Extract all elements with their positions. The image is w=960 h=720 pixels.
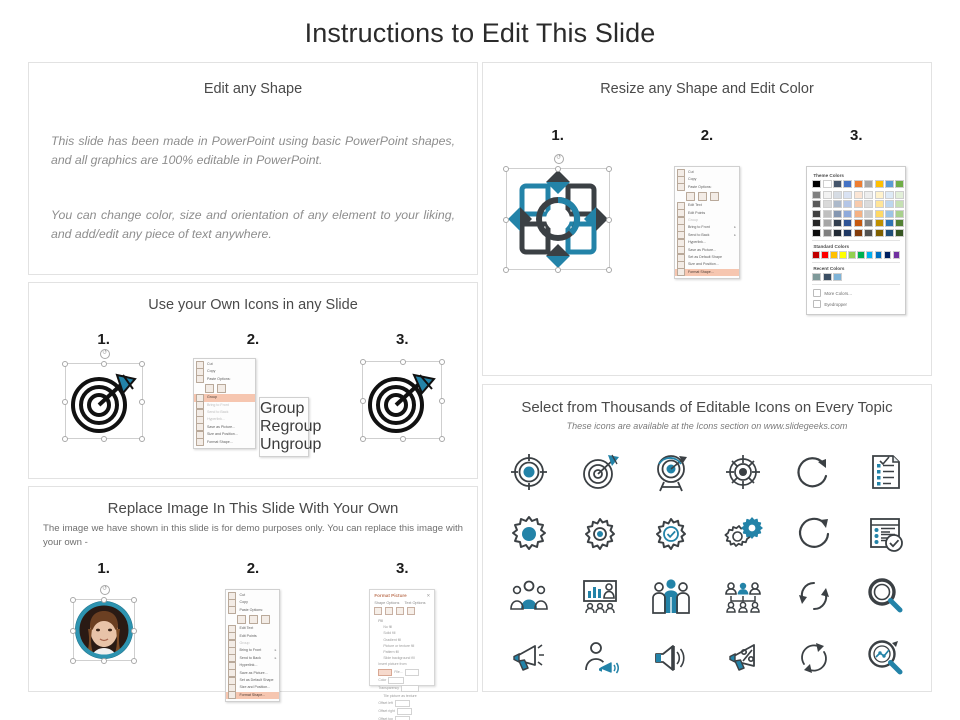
menu-item[interactable]: Paste Options: [226, 607, 279, 614]
panel-resize-shape: Resize any Shape and Edit Color 1. ↺ [482, 62, 932, 376]
context-menu-group[interactable]: CutCopyPaste Options:GroupBring to Front… [193, 358, 256, 449]
format-pane-tab-shape[interactable]: Shape Options [374, 601, 399, 605]
color-swatch[interactable] [812, 229, 821, 237]
menu-item-label: Group [260, 400, 304, 417]
icon-team-three[interactable] [636, 565, 707, 627]
menu-item-label: Cut [207, 361, 213, 368]
slide-canvas: Instructions to Edit This Slide Edit any… [0, 0, 960, 720]
color-swatch[interactable] [833, 210, 842, 218]
color-swatch[interactable] [895, 210, 904, 218]
color-swatch[interactable] [885, 229, 894, 237]
own-icons-step-1: 1. ↺ [29, 331, 178, 439]
color-swatch[interactable] [833, 200, 842, 208]
theme-color-column[interactable] [854, 180, 863, 237]
menu-item[interactable]: Format Shape... [194, 439, 255, 446]
menu-item-label: Hyperlink... [239, 662, 257, 669]
color-swatch[interactable] [823, 180, 832, 188]
close-icon[interactable]: ✕ [426, 593, 430, 599]
color-swatch[interactable] [833, 219, 842, 227]
replace-image-step-2: 2. CutCopyPaste Options:Edit TextEdit Po… [178, 560, 327, 702]
menu-item-label: Paste Options: [207, 376, 231, 383]
color-swatch[interactable] [854, 219, 863, 227]
panel-heading-resize-shape: Resize any Shape and Edit Color [483, 81, 931, 97]
icon-target-stand[interactable] [636, 441, 707, 503]
color-swatch[interactable] [884, 251, 892, 259]
color-swatch[interactable] [875, 200, 884, 208]
eyedropper-icon [813, 300, 821, 308]
resize-step-3: 3. Theme Colors Standard Colors Recent C… [782, 127, 931, 315]
icon-gear-check[interactable] [636, 503, 707, 565]
panel-icons-library: Select from Thousands of Editable Icons … [482, 384, 932, 692]
icon-gears-pair[interactable] [707, 503, 778, 565]
color-swatch[interactable] [895, 180, 904, 188]
color-swatch[interactable] [875, 251, 883, 259]
step-number: 3. [396, 560, 409, 577]
tile-picture-checkbox[interactable]: Tile picture as texture [374, 693, 430, 699]
paste-option-icon[interactable] [710, 192, 719, 201]
color-swatch[interactable] [833, 229, 842, 237]
color-swatch[interactable] [895, 191, 904, 199]
chevron-right-icon: ▸ [734, 232, 736, 239]
edit-shape-paragraph-2: You can change color, size and orientati… [51, 206, 455, 244]
icon-gear-dot[interactable] [564, 503, 635, 565]
menu-item-label: Group [207, 394, 217, 401]
size-icon[interactable] [396, 607, 404, 615]
menu-item-label: Group [239, 640, 249, 647]
chevron-right-icon: ▸ [734, 224, 736, 231]
menu-item-label: Edit Text [239, 625, 253, 632]
color-swatch[interactable] [895, 229, 904, 237]
icon-cycle-arrows[interactable] [778, 565, 849, 627]
color-swatch[interactable] [854, 210, 863, 218]
menu-item-label: Group [688, 217, 698, 224]
icon-magnifier-target[interactable] [850, 627, 921, 689]
paste-option-icon[interactable] [249, 615, 258, 624]
paste-option-icon[interactable] [237, 615, 246, 624]
eyedropper-option[interactable]: Eyedropper [812, 299, 900, 310]
menu-item-label: Save as Picture... [207, 424, 235, 431]
own-icons-step-2: 2. CutCopyPaste Options:GroupBring to Fr… [178, 331, 327, 468]
step-number: 3. [396, 331, 409, 348]
color-swatch[interactable] [864, 229, 873, 237]
color-swatch[interactable] [812, 273, 821, 281]
menu-item-label: Edit Points [239, 633, 256, 640]
menu-item-label: Set as Default Shape [688, 254, 722, 261]
color-swatch[interactable] [864, 191, 873, 199]
resize-step-1: 1. ↺ [483, 127, 632, 270]
paste-option-icon[interactable] [698, 192, 707, 201]
color-swatch[interactable] [885, 210, 894, 218]
icon-gear-solid[interactable] [493, 503, 564, 565]
resize-step-2: 2. CutCopyPaste Options:Edit TextEdit Po… [632, 127, 781, 279]
color-swatch[interactable] [843, 210, 852, 218]
color-swatch[interactable] [864, 219, 873, 227]
more-colors-label: More Colors... [824, 291, 852, 296]
theme-color-column[interactable] [843, 180, 852, 237]
paste-option-icon[interactable] [205, 384, 214, 393]
icon-presentation-audience[interactable] [564, 565, 635, 627]
color-swatch[interactable] [823, 191, 832, 199]
menu-item-label: Send to Back [688, 232, 709, 239]
color-swatch[interactable] [864, 210, 873, 218]
theme-colors-grid[interactable] [812, 180, 900, 237]
theme-color-column[interactable] [864, 180, 873, 237]
eyedropper-label: Eyedropper [824, 302, 847, 307]
chevron-right-icon: ▸ [275, 647, 277, 654]
selected-target-shape[interactable]: ↺ [65, 363, 143, 439]
color-swatch[interactable] [821, 251, 829, 259]
menu-item: Bring to Front [194, 402, 255, 409]
color-swatch[interactable] [843, 200, 852, 208]
step-number: 1. [551, 127, 564, 144]
menu-item-label: Regroup [260, 418, 321, 435]
menu-item-label: Bring to Front [688, 224, 710, 231]
selected-quadrant-shape[interactable]: ↺ [506, 168, 610, 270]
recent-colors-row[interactable] [812, 273, 900, 281]
menu-item-label: Copy [239, 599, 247, 606]
menu-item-label: Size and Position... [239, 684, 270, 691]
replace-image-step-1: 1. ↺ [29, 560, 178, 661]
color-swatch[interactable] [812, 180, 821, 188]
icon-rotate-arrows[interactable] [778, 627, 849, 689]
fill-icon[interactable] [374, 607, 382, 615]
menu-item-icon [228, 691, 236, 699]
menu-item[interactable]: Edit Points [226, 633, 279, 640]
menu-item[interactable]: Save as Picture... [226, 670, 279, 677]
chevron-right-icon: ▸ [275, 655, 277, 662]
picture-icon[interactable] [407, 607, 415, 615]
icon-refresh-arrow[interactable] [778, 441, 849, 503]
own-icons-step-3: 3. [328, 331, 477, 439]
icon-people-group[interactable] [493, 565, 564, 627]
color-swatch[interactable] [823, 210, 832, 218]
theme-color-column[interactable] [833, 180, 842, 237]
menu-item-label: Edit Text [688, 202, 702, 209]
paste-option-icon[interactable] [217, 384, 226, 393]
color-swatch[interactable] [866, 251, 874, 259]
color-swatch[interactable] [848, 251, 856, 259]
icon-team-hierarchy[interactable] [707, 565, 778, 627]
color-swatch[interactable] [875, 191, 884, 199]
color-swatch[interactable] [885, 180, 894, 188]
format-pane-tab-text[interactable]: Text Options [404, 601, 425, 605]
color-picker[interactable]: Theme Colors Standard Colors Recent Colo… [806, 166, 906, 315]
menu-item: Regroup [260, 418, 308, 436]
color-swatch[interactable] [854, 180, 863, 188]
context-submenu-group[interactable]: GroupRegroupUngroup [259, 397, 309, 457]
color-swatch[interactable] [812, 200, 821, 208]
selected-portrait-image[interactable]: ↺ [73, 599, 135, 661]
icon-checklist-approved[interactable] [850, 503, 921, 565]
color-swatch[interactable] [823, 273, 832, 281]
menu-item-icon [196, 375, 204, 383]
menu-item-label: Paste Options: [688, 184, 712, 191]
theme-color-column[interactable] [895, 180, 904, 237]
theme-color-column[interactable] [823, 180, 832, 237]
fill-color-label: Color [378, 678, 386, 682]
step-number: 1. [97, 331, 110, 348]
effects-icon[interactable] [385, 607, 393, 615]
color-swatch[interactable] [854, 200, 863, 208]
menu-item[interactable]: Format Shape... [226, 692, 279, 699]
color-swatch[interactable] [843, 219, 852, 227]
menu-item-label: Bring to Front [207, 402, 229, 409]
menu-item-label: Hyperlink... [207, 416, 225, 423]
menu-item-label: Bring to Front [239, 647, 261, 654]
icon-megaphone[interactable] [493, 627, 564, 689]
theme-color-column[interactable] [875, 180, 884, 237]
color-swatch[interactable] [875, 180, 884, 188]
panel-edit-any-shape: Edit any Shape This slide has been made … [28, 62, 478, 275]
menu-item[interactable]: Edit Points [675, 210, 739, 217]
color-swatch[interactable] [895, 200, 904, 208]
color-swatch[interactable] [833, 180, 842, 188]
menu-item-label: Set as Default Shape [239, 677, 273, 684]
color-swatch[interactable] [833, 273, 842, 281]
color-swatch[interactable] [857, 251, 865, 259]
paste-options-row[interactable] [226, 614, 279, 625]
icon-person-megaphone[interactable] [564, 627, 635, 689]
color-swatch[interactable] [843, 191, 852, 199]
menu-item-icon [228, 606, 236, 614]
more-colors-option[interactable]: More Colors... [812, 288, 900, 299]
menu-item-label: Copy [207, 368, 215, 375]
page-title: Instructions to Edit This Slide [0, 18, 960, 49]
recent-colors-label: Recent Colors [813, 266, 900, 271]
color-swatch[interactable] [839, 251, 847, 259]
menu-item-label: Cut [688, 169, 694, 176]
menu-item[interactable]: Paste Options: [194, 376, 255, 383]
paste-options-row[interactable] [675, 191, 739, 202]
color-swatch[interactable] [854, 191, 863, 199]
color-swatch[interactable] [812, 191, 821, 199]
color-swatch[interactable] [823, 229, 832, 237]
menu-item-label: Size and Position... [688, 261, 719, 268]
color-swatch[interactable] [864, 200, 873, 208]
menu-item[interactable]: Save as Picture... [675, 247, 739, 254]
color-swatch[interactable] [895, 219, 904, 227]
offset-label: Offset left [378, 701, 392, 705]
menu-item-label: Send to Back [207, 409, 228, 416]
theme-color-column[interactable] [885, 180, 894, 237]
paste-option-icon[interactable] [686, 192, 695, 201]
step-number: 3. [850, 127, 863, 144]
menu-item-label: Paste Options: [239, 607, 263, 614]
context-menu-shape[interactable]: CutCopyPaste Options:Edit TextEdit Point… [674, 166, 740, 279]
step-number: 1. [97, 560, 110, 577]
color-swatch[interactable] [893, 251, 901, 259]
menu-item-label: Format Shape... [207, 439, 233, 446]
menu-item-label: Size and Position... [207, 431, 238, 438]
insert-picture-from-label: Insert picture from [374, 661, 430, 667]
menu-item-label: Ungroup [260, 436, 321, 453]
menu-item[interactable]: Paste Options: [675, 184, 739, 191]
menu-item-label: Edit Points [688, 210, 705, 217]
menu-item-label: Format Shape... [239, 692, 265, 699]
theme-color-column[interactable] [812, 180, 821, 237]
ungrouped-target-shape[interactable] [362, 361, 442, 439]
edit-shape-paragraph-1: This slide has been made in PowerPoint u… [51, 132, 455, 170]
icon-speaker-horn[interactable] [636, 627, 707, 689]
step-number: 2. [701, 127, 714, 144]
panel-heading-own-icons: Use your Own Icons in any Slide [29, 297, 477, 313]
icon-crosshair-target[interactable] [707, 441, 778, 503]
color-swatch[interactable] [823, 219, 832, 227]
color-swatch[interactable] [812, 251, 820, 259]
color-swatch[interactable] [812, 219, 821, 227]
color-swatch[interactable] [885, 219, 894, 227]
standard-colors-row[interactable] [812, 251, 900, 259]
format-pane-title: Format Picture [374, 593, 406, 599]
icon-megaphone-percent[interactable] [707, 627, 778, 689]
menu-item-label: Save as Picture... [239, 670, 267, 677]
context-menu-picture[interactable]: CutCopyPaste Options:Edit TextEdit Point… [225, 589, 280, 702]
menu-item[interactable]: Ungroup [260, 436, 308, 454]
menu-item: Group [260, 400, 308, 418]
transparency-label: Transparency [378, 686, 399, 690]
icon-magnifier[interactable] [850, 565, 921, 627]
color-swatch[interactable] [830, 251, 838, 259]
menu-item-icon [677, 183, 685, 191]
panel-replace-image: Replace Image In This Slide With Your Ow… [28, 486, 478, 692]
panel-heading-replace-image: Replace Image In This Slide With Your Ow… [29, 500, 477, 517]
standard-colors-label: Standard Colors [813, 244, 900, 249]
color-swatch[interactable] [823, 200, 832, 208]
color-swatch[interactable] [875, 219, 884, 227]
replace-image-step-3: 3. Format Picture✕ Shape Options Text Op… [328, 560, 477, 686]
panel-heading-edit-shape: Edit any Shape [29, 81, 477, 97]
color-swatch[interactable] [833, 191, 842, 199]
menu-item-label: Hyperlink... [688, 239, 706, 246]
color-swatch[interactable] [864, 180, 873, 188]
icon-checklist-document[interactable] [850, 441, 921, 503]
color-swatch[interactable] [854, 229, 863, 237]
menu-item-label: Save as Picture... [688, 247, 716, 254]
offset-label: Offset right [378, 709, 395, 713]
icon-dartboard-arrow[interactable] [564, 441, 635, 503]
palette-icon [813, 289, 821, 297]
paste-option-icon[interactable] [261, 615, 270, 624]
menu-item-label: Copy [688, 176, 696, 183]
step-number: 2. [247, 560, 260, 577]
color-swatch[interactable] [875, 229, 884, 237]
menu-item-icon [196, 438, 204, 446]
format-picture-pane[interactable]: Format Picture✕ Shape Options Text Optio… [369, 589, 435, 686]
menu-item[interactable]: Format Shape... [675, 269, 739, 276]
color-swatch[interactable] [885, 200, 894, 208]
color-swatch[interactable] [843, 180, 852, 188]
icon-circular-refresh[interactable] [778, 503, 849, 565]
fill-file-button[interactable]: File... [394, 670, 402, 674]
panel-subheading-icons: These icons are available at the Icons s… [483, 421, 931, 431]
menu-item-label: Cut [239, 592, 245, 599]
icon-target-crosshair[interactable] [493, 441, 564, 503]
step-number: 2. [247, 331, 260, 348]
color-swatch[interactable] [885, 191, 894, 199]
menu-item-icon [677, 268, 685, 276]
menu-item-label: Send to Back [239, 655, 260, 662]
replace-image-paragraph: The image we have shown in this slide is… [43, 522, 463, 550]
paste-options-row[interactable] [194, 383, 255, 394]
panel-use-own-icons: Use your Own Icons in any Slide 1. ↺ [28, 282, 478, 479]
menu-item-label: Format Shape... [688, 269, 714, 276]
color-swatch[interactable] [843, 229, 852, 237]
color-swatch[interactable] [812, 210, 821, 218]
theme-colors-label: Theme Colors [813, 173, 900, 178]
color-swatch[interactable] [875, 210, 884, 218]
panel-heading-icons: Select from Thousands of Editable Icons … [483, 399, 931, 416]
